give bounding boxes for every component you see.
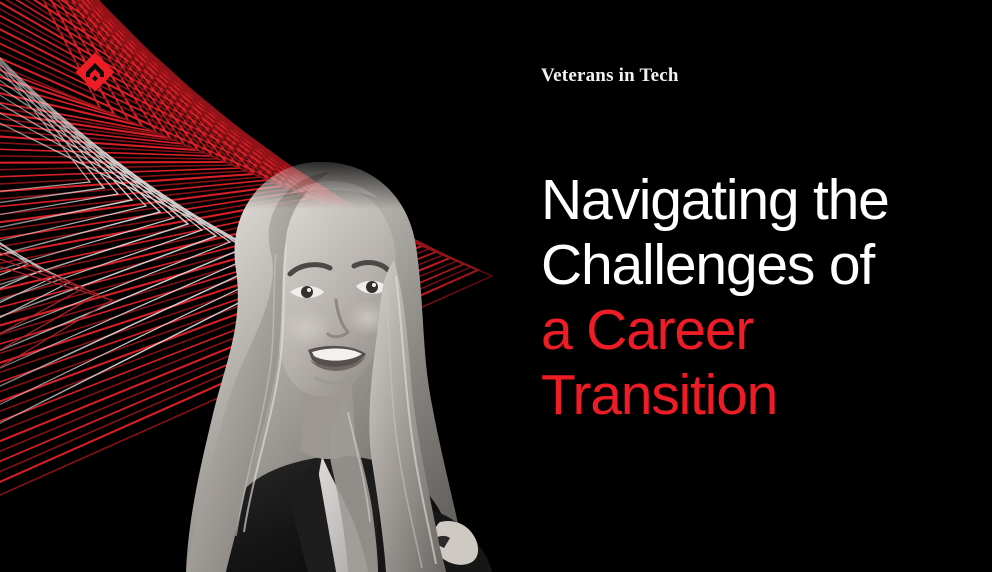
headline-line-4: Transition bbox=[541, 363, 971, 428]
hair-back bbox=[186, 162, 462, 572]
text-column: Veterans in Tech Navigating the Challeng… bbox=[541, 0, 971, 572]
blazer bbox=[214, 456, 456, 572]
brand-title: Veterans in Tech bbox=[541, 65, 679, 87]
arm bbox=[376, 506, 492, 572]
hero-banner: Veterans in Tech Navigating the Challeng… bbox=[0, 0, 992, 572]
blouse bbox=[316, 456, 368, 572]
headline-line-2: Challenges of bbox=[541, 233, 971, 298]
page-title: Navigating the Challenges of a Career Tr… bbox=[541, 168, 971, 428]
headline-line-3: a Career bbox=[541, 298, 971, 363]
face bbox=[272, 188, 396, 396]
hand bbox=[434, 521, 478, 565]
portrait-image bbox=[140, 150, 510, 572]
hair-front-left bbox=[186, 172, 330, 572]
veterans-in-tech-logo-icon[interactable] bbox=[74, 51, 116, 93]
hair-front-right bbox=[369, 260, 446, 572]
headline-line-1: Navigating the bbox=[541, 168, 971, 233]
